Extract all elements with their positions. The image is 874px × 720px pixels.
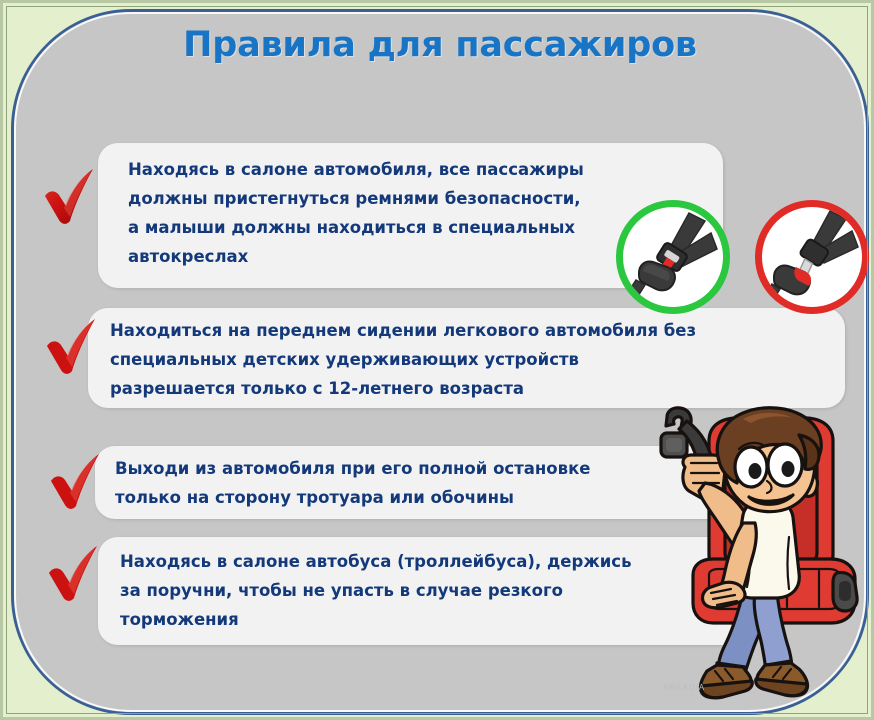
red-check-icon — [45, 543, 103, 605]
boy-on-car-seat-illustration: .ol { stroke:#17120f; stroke-width:3.2; … — [647, 405, 874, 705]
seatbelt-fastened-icon — [616, 200, 730, 314]
red-check-icon — [47, 451, 105, 513]
rule-text-4: Находясь в салоне автобуса (троллейбуса)… — [120, 547, 720, 634]
seatbelt-unfastened-icon — [755, 200, 869, 314]
slide-canvas: Правила для пассажиров Находясь в салоне… — [0, 0, 874, 720]
rule-text-2: Находиться на переднем сидении легкового… — [110, 316, 830, 403]
rule-text-3: Выходи из автомобиля при его полной оста… — [115, 454, 715, 512]
rule-text-1: Находясь в салоне автомобиля, все пассаж… — [128, 155, 688, 271]
red-check-icon — [43, 316, 101, 378]
rule-card-2: Находиться на переднем сидении легкового… — [88, 308, 845, 408]
page-title: Правила для пассажиров — [3, 25, 874, 65]
watermark: ARKADIA — [663, 683, 705, 692]
red-check-icon — [41, 166, 99, 228]
